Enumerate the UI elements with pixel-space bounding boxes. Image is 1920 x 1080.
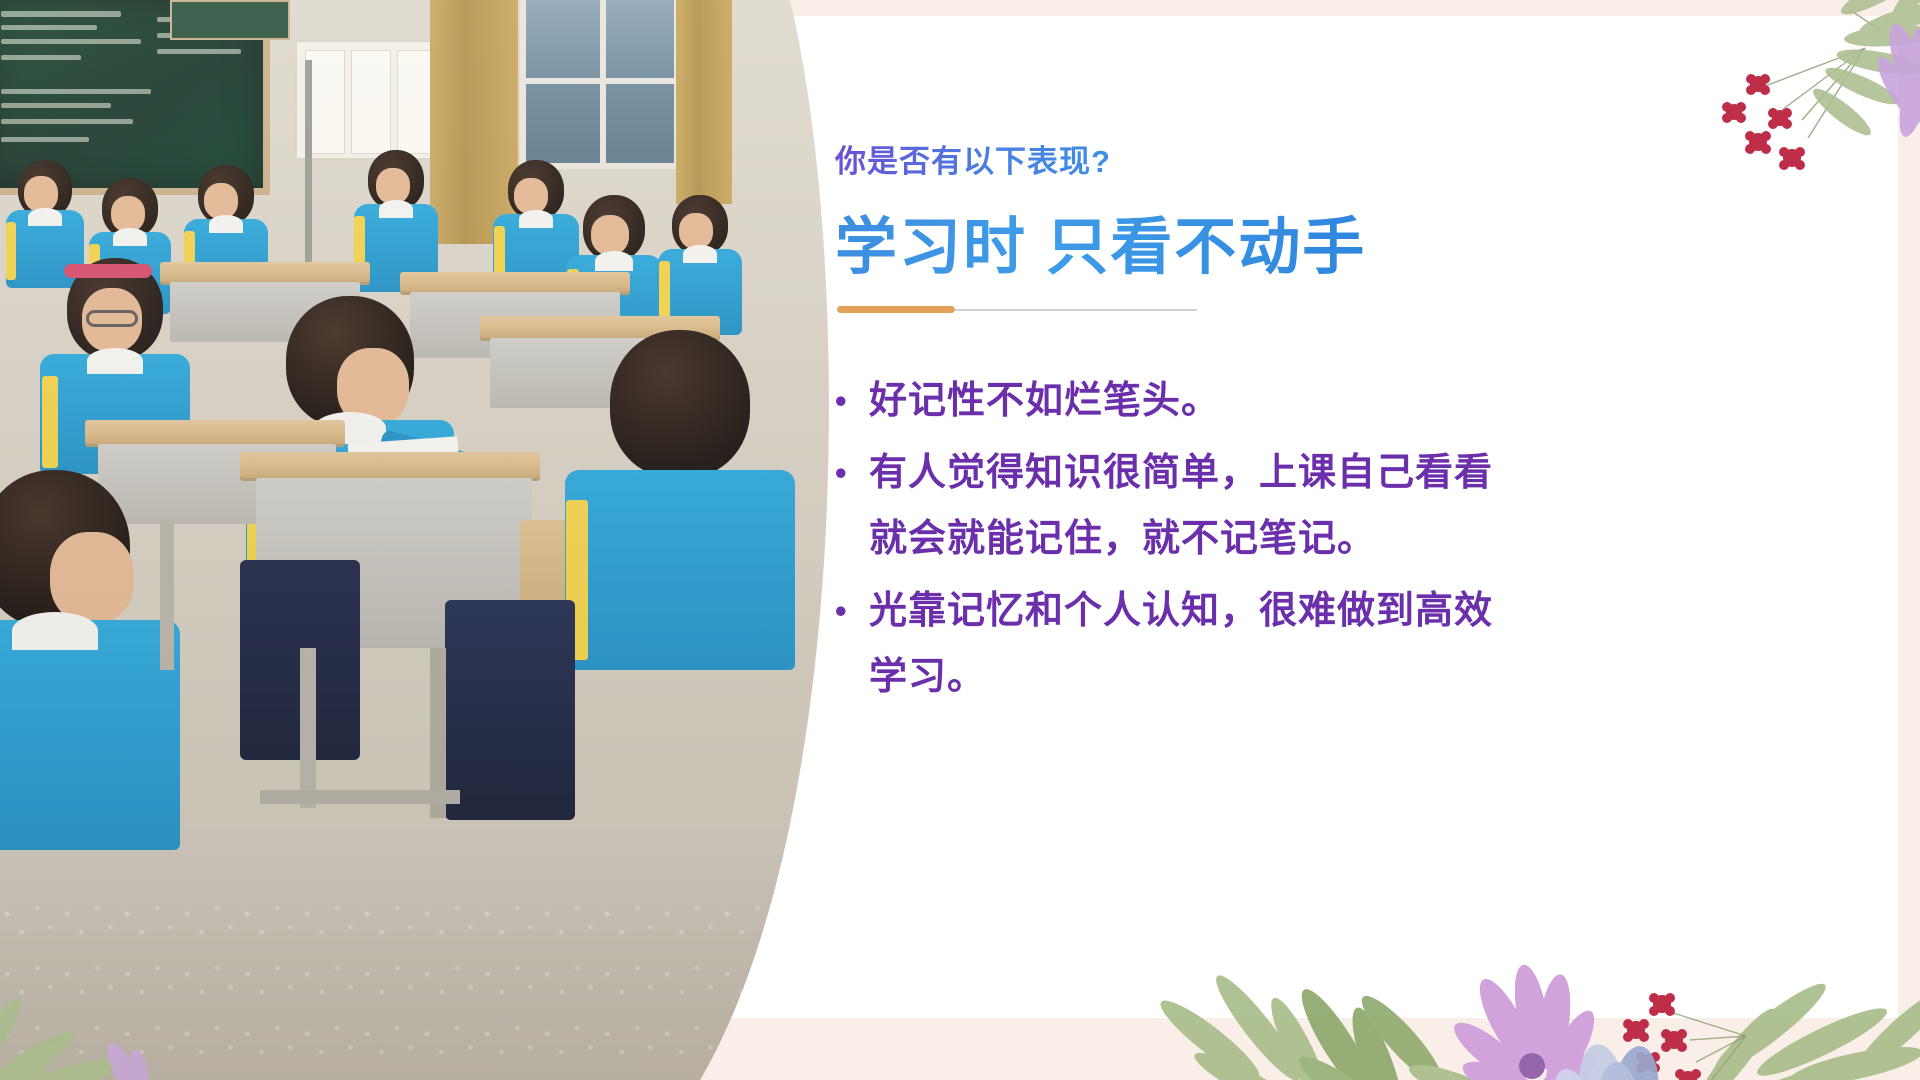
bullet-dot-icon: • [835, 578, 869, 644]
slide-root: 你是否有以下表现? 学习时 只看不动手 • 好记性不如烂笔头。 • 有人觉得知识… [0, 0, 1920, 1080]
divider-line-segment [955, 309, 1197, 311]
list-item: • 好记性不如烂笔头。 [835, 368, 1535, 434]
bullet-dot-icon: • [835, 368, 869, 434]
photo-tone [0, 0, 830, 1080]
bullet-text: 有人觉得知识很简单，上课自己看看就会就能记住，就不记笔记。 [869, 440, 1509, 572]
divider [837, 306, 1197, 313]
bullet-list: • 好记性不如烂笔头。 • 有人觉得知识很简单，上课自己看看就会就能记住，就不记… [835, 368, 1535, 716]
bullet-text: 光靠记忆和个人认知，很难做到高效学习。 [869, 578, 1509, 710]
slide-headline: 学习时 只看不动手 [835, 196, 1366, 286]
list-item: • 有人觉得知识很简单，上课自己看看就会就能记住，就不记笔记。 [835, 440, 1535, 572]
bullet-text: 好记性不如烂笔头。 [869, 368, 1220, 434]
classroom-photo [0, 0, 830, 1080]
divider-accent-segment [837, 306, 955, 313]
list-item: • 光靠记忆和个人认知，很难做到高效学习。 [835, 578, 1535, 710]
eyebrow-question: 你是否有以下表现? [835, 136, 1111, 181]
text-content-area: 你是否有以下表现? 学习时 只看不动手 • 好记性不如烂笔头。 • 有人觉得知识… [835, 0, 1920, 1080]
bullet-dot-icon: • [835, 440, 869, 506]
